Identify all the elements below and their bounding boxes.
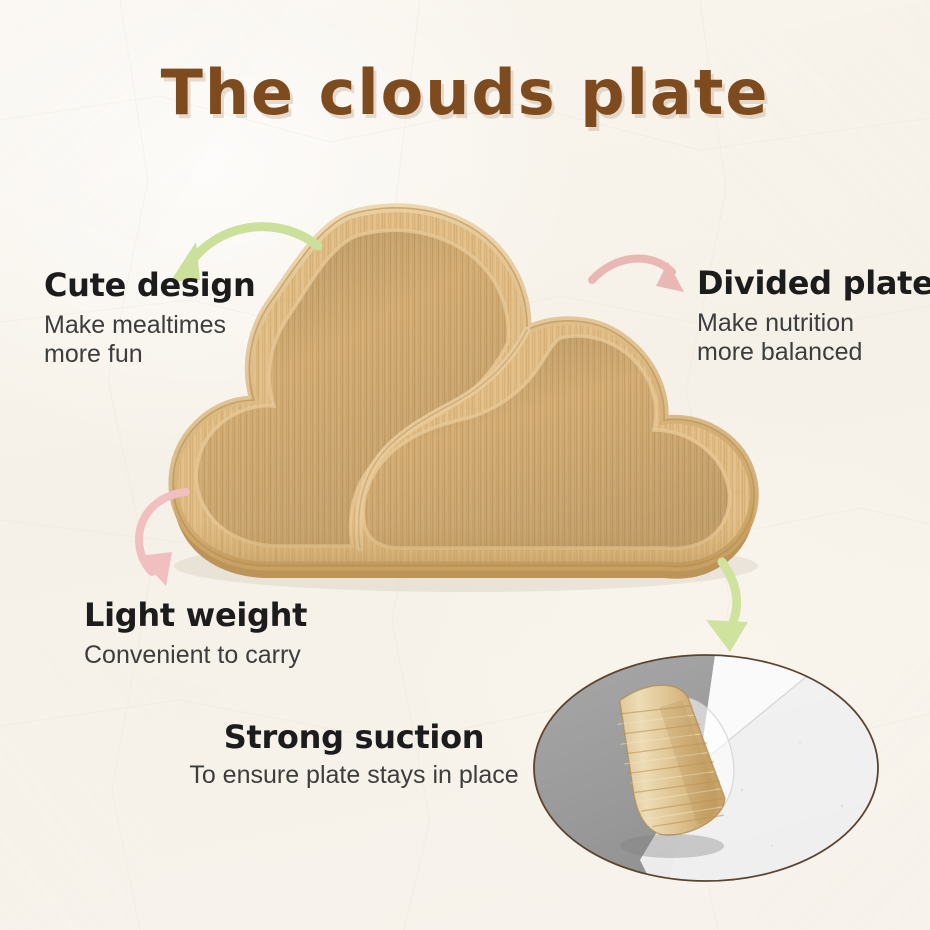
feature-subtitle: Make mealtimes more fun — [44, 311, 255, 369]
product-infographic: The clouds plate — [0, 0, 930, 930]
feature-strong-suction: Strong suction To ensure plate stays in … — [168, 720, 540, 790]
feature-subtitle: To ensure plate stays in place — [168, 761, 540, 790]
feature-heading: Light weight — [84, 598, 307, 634]
feature-light-weight: Light weight Convenient to carry — [84, 598, 307, 670]
feature-subtitle: Make nutrition more balanced — [697, 309, 930, 367]
feature-subtitle: Convenient to carry — [84, 641, 307, 670]
feature-heading: Divided plate — [697, 266, 930, 302]
feature-heading: Cute design — [44, 268, 255, 304]
feature-heading: Strong suction — [168, 720, 540, 756]
suction-detail-inset — [0, 0, 930, 930]
feature-cute-design: Cute design Make mealtimes more fun — [44, 268, 255, 369]
feature-divided-plate: Divided plate Make nutrition more balanc… — [697, 266, 930, 367]
